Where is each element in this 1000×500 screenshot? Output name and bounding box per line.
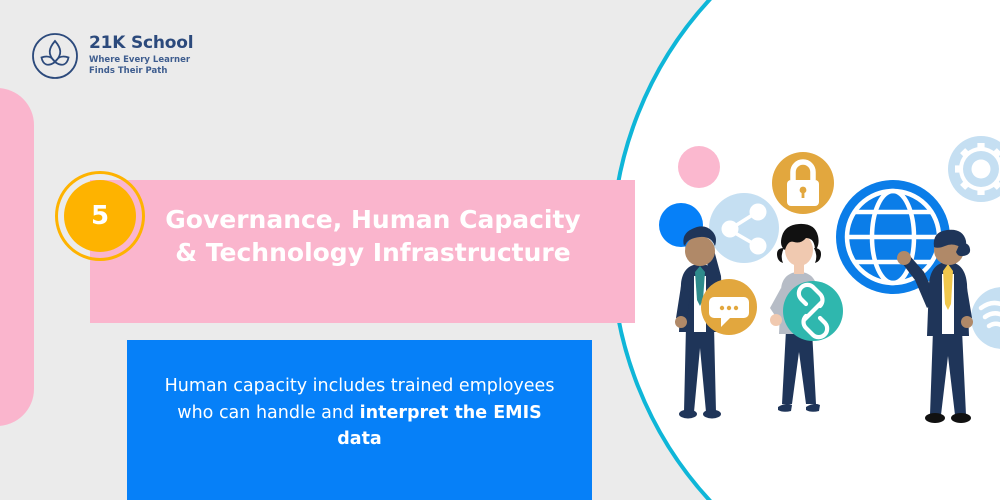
page-title: Governance, Human Capacity & Technology … <box>148 203 598 269</box>
badge-number: 5 <box>91 203 109 229</box>
body-callout-box: Human capacity includes trained employee… <box>127 340 592 500</box>
section-number-badge: 5 <box>55 171 145 261</box>
brand-tagline-line1: Where Every Learner <box>89 55 190 65</box>
page-title-line1: Governance, Human Capacity <box>165 205 580 234</box>
slide-canvas: 21K School Where Every Learner Finds The… <box>0 0 1000 500</box>
brand-name: 21K School <box>89 35 193 52</box>
brand-logo-text: 21K School Where Every Learner Finds The… <box>89 35 193 76</box>
page-title-line2: & Technology Infrastructure <box>175 238 570 267</box>
badge-disc: 5 <box>64 180 136 252</box>
lotus-circle-icon <box>30 31 80 81</box>
body-text: Human capacity includes trained employee… <box>127 373 592 467</box>
brand-tagline: Where Every Learner Finds Their Path <box>89 55 193 76</box>
body-text-bold: interpret the EMIS data <box>337 403 541 450</box>
white-disc <box>610 0 1000 500</box>
brand-logo: 21K School Where Every Learner Finds The… <box>30 31 193 81</box>
brand-tagline-line2: Finds Their Path <box>89 66 167 76</box>
